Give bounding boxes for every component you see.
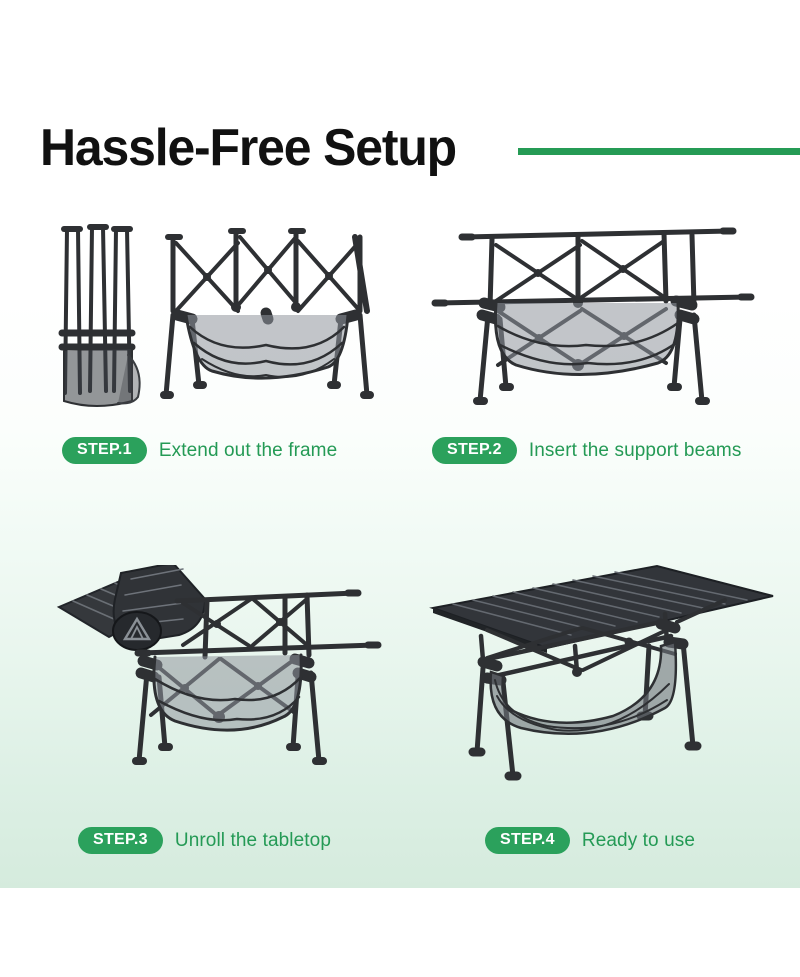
step-3-label: STEP.3 Unroll the tabletop (78, 827, 331, 854)
step-4-label: STEP.4 Ready to use (485, 827, 695, 854)
step-2-illustration (430, 215, 780, 420)
step-2-text: Insert the support beams (529, 441, 742, 460)
step-4-illustration (425, 550, 780, 795)
step-3-illustration (55, 565, 395, 785)
art-frame-with-support-beams (430, 215, 780, 420)
steps-grid: STEP.1 Extend out the frame (0, 0, 800, 977)
step-4-text: Ready to use (582, 831, 695, 850)
step-1-badge: STEP.1 (62, 437, 147, 464)
step-1-text: Extend out the frame (159, 441, 337, 460)
step-1-illustration (40, 215, 380, 420)
step-2-label: STEP.2 Insert the support beams (432, 437, 741, 464)
step-3-text: Unroll the tabletop (175, 831, 331, 850)
art-assembled-table (425, 550, 780, 795)
step-3-badge: STEP.3 (78, 827, 163, 854)
art-folded-and-extended-frame (40, 215, 380, 420)
art-frame-with-rolling-tabletop (55, 565, 395, 785)
step-4-badge: STEP.4 (485, 827, 570, 854)
step-1-label: STEP.1 Extend out the frame (62, 437, 337, 464)
step-2-badge: STEP.2 (432, 437, 517, 464)
infographic-page: Hassle-Free Setup (0, 0, 800, 977)
